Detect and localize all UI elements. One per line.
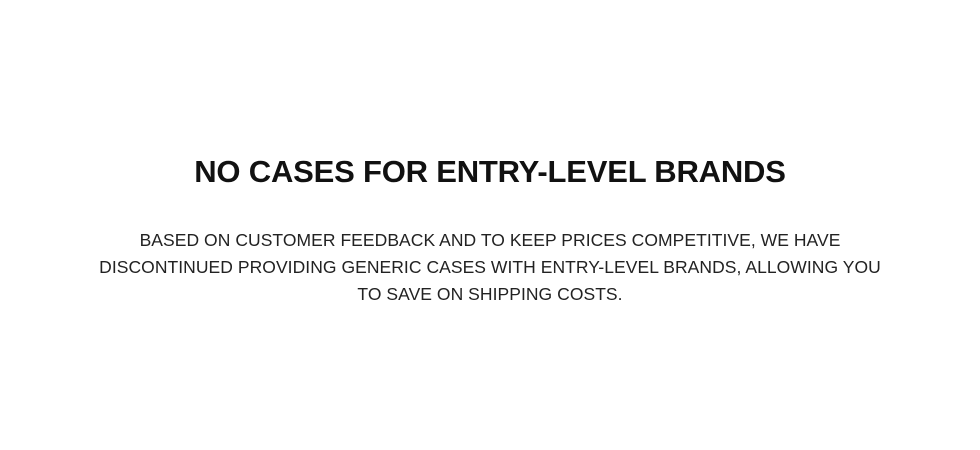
notice-body-text: BASED ON CUSTOMER FEEDBACK AND TO KEEP P… [85, 189, 895, 308]
notice-banner: NO CASES FOR ENTRY-LEVEL BRANDS BASED ON… [0, 0, 980, 450]
page-title: NO CASES FOR ENTRY-LEVEL BRANDS [40, 155, 940, 189]
